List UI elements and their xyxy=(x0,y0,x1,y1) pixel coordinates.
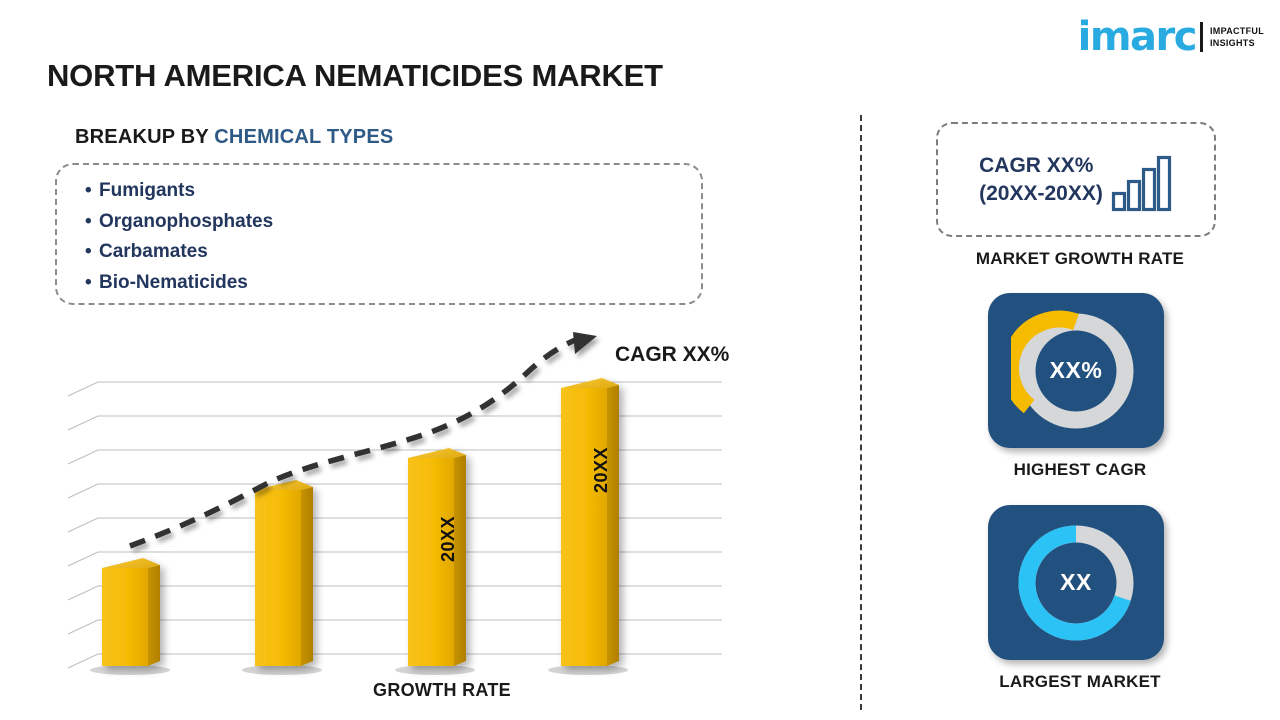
largest-market-tile: XX xyxy=(988,505,1164,660)
list-item-label: Carbamates xyxy=(99,241,208,262)
bar-year-label-4: 20XX xyxy=(591,447,612,493)
right-stats-panel: CAGR XX% (20XX-20XX) MARKET GROWTH RATE … xyxy=(900,115,1260,715)
logo-tagline: IMPACTFUL INSIGHTS xyxy=(1210,25,1264,49)
imarc-logo: imarc IMPACTFUL INSIGHTS xyxy=(1078,14,1264,60)
cagr-text: CAGR XX% (20XX-20XX) xyxy=(979,152,1103,208)
bar-year-label-3: 20XX xyxy=(438,516,459,562)
bar-ground-shadows xyxy=(90,665,628,675)
trendline xyxy=(130,332,597,546)
logo-divider xyxy=(1200,22,1203,52)
logo-tagline-line1: IMPACTFUL xyxy=(1210,25,1264,37)
bar-4 xyxy=(561,378,619,666)
cagr-value: CAGR XX% xyxy=(979,152,1103,180)
page-title: NORTH AMERICA NEMATICIDES MARKET xyxy=(47,58,663,94)
segment-list: •Fumigants •Organophosphates •Carbamates… xyxy=(57,165,701,298)
logo-tagline-line2: INSIGHTS xyxy=(1210,37,1264,49)
bullet-icon: • xyxy=(85,207,99,238)
highest-cagr-tile: XX% xyxy=(988,293,1164,448)
panel-divider xyxy=(860,115,862,710)
cagr-period: (20XX-20XX) xyxy=(979,180,1103,208)
bullet-icon: • xyxy=(85,237,99,268)
chart-canvas xyxy=(60,330,750,710)
highest-cagr-caption: HIGHEST CAGR xyxy=(900,460,1260,480)
infographic-page: imarc IMPACTFUL INSIGHTS NORTH AMERICA N… xyxy=(0,0,1280,720)
bullet-icon: • xyxy=(85,176,99,207)
list-item-label: Bio-Nematicides xyxy=(99,272,248,293)
cagr-annotation-label: CAGR XX% xyxy=(615,343,729,367)
chart-gridlines xyxy=(68,382,722,668)
segment-list-box: •Fumigants •Organophosphates •Carbamates… xyxy=(55,163,703,305)
list-item: •Carbamates xyxy=(85,237,701,268)
market-growth-rate-box: CAGR XX% (20XX-20XX) xyxy=(936,122,1216,237)
list-item: •Organophosphates xyxy=(85,207,701,238)
list-item-label: Organophosphates xyxy=(99,211,273,232)
breakup-heading: BREAKUP BY CHEMICAL TYPES xyxy=(75,126,393,149)
chart-axis-label: GROWTH RATE xyxy=(347,680,537,701)
logo-wordmark: imarc xyxy=(1078,18,1196,56)
largest-market-caption: LARGEST MARKET xyxy=(900,672,1260,692)
largest-market-value: XX xyxy=(1060,569,1092,596)
list-item: •Fumigants xyxy=(85,176,701,207)
bar-1 xyxy=(102,558,160,666)
bullet-icon: • xyxy=(85,268,99,299)
list-item-label: Fumigants xyxy=(99,180,195,201)
bar-2 xyxy=(255,480,313,666)
ascending-bars-icon xyxy=(1111,154,1173,212)
growth-rate-bar-chart: 20XX 20XX CAGR XX% GROWTH RATE xyxy=(60,330,750,710)
market-growth-rate-caption: MARKET GROWTH RATE xyxy=(900,249,1260,269)
breakup-heading-accent: CHEMICAL TYPES xyxy=(214,126,393,148)
list-item: •Bio-Nematicides xyxy=(85,268,701,299)
highest-cagr-value: XX% xyxy=(1050,357,1103,384)
breakup-heading-lead: BREAKUP BY xyxy=(75,126,209,148)
